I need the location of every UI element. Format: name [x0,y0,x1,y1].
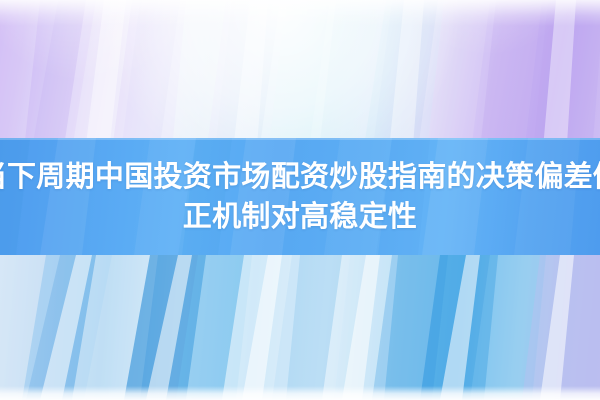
banner-title-line-1: 当下周期中国投资市场配资炒股指南的决策偏差修 [0,157,600,197]
banner-title-line-2: 正机制对高稳定性 [183,197,417,237]
banner-image: 当下周期中国投资市场配资炒股指南的决策偏差修 正机制对高稳定性 [0,0,600,400]
bottom-facet-section [0,255,600,400]
banner-title: 当下周期中国投资市场配资炒股指南的决策偏差修 正机制对高稳定性 [0,138,600,255]
bottom-fade [0,386,600,400]
prism-shards-bottom [0,255,600,400]
background-top-glow [0,0,600,26]
